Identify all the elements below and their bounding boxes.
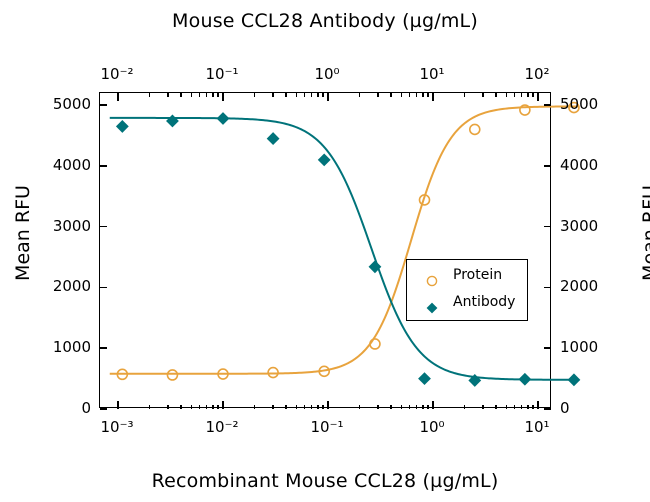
x-tick-minor-top [464,93,466,97]
top-axis-title: Mouse CCL28 Antibody (µg/mL) [0,10,650,32]
x-tick-major-top [222,93,224,101]
x-tick-minor-bottom [149,405,151,409]
data-point-antibody [568,373,581,386]
y-tick-label-left: 1000 [41,338,91,356]
x-tick-minor-top [217,93,219,97]
x-tick-major-bottom [537,401,539,409]
filled-diamond-icon [425,301,439,315]
x-tick-minor-bottom [254,405,256,409]
x-tick-label-bottom: 10⁻¹ [310,418,343,436]
y-tick-left [100,408,107,410]
left-axis-title: Mean RFU [12,153,34,313]
x-tick-minor-top [272,93,274,97]
x-tick-minor-top [191,93,193,97]
y-tick-left [100,226,107,228]
y-tick-right [544,347,551,349]
x-tick-minor-bottom [377,405,379,409]
x-tick-minor-bottom [296,405,298,409]
x-tick-minor-bottom [416,405,418,409]
right-axis-title: Mean RFU [639,153,650,313]
x-tick-minor-bottom [401,405,403,409]
x-tick-minor-bottom [322,405,324,409]
legend: Protein Antibody [406,259,528,321]
x-tick-minor-bottom [422,405,424,409]
legend-item-protein: Protein [407,264,529,288]
x-tick-label-bottom: 10⁻² [205,418,238,436]
x-tick-minor-bottom [527,405,529,409]
y-tick-label-right: 2000 [560,277,598,295]
x-tick-minor-top [180,93,182,97]
y-tick-left [100,165,107,167]
data-point-antibody [166,115,179,128]
x-tick-minor-top [401,93,403,97]
x-tick-minor-bottom [482,405,484,409]
x-tick-label-top: 10¹ [419,65,444,83]
x-tick-minor-top [377,93,379,97]
x-tick-minor-top [506,93,508,97]
y-tick-label-left: 3000 [41,217,91,235]
y-tick-right [544,226,551,228]
x-tick-minor-top [304,93,306,97]
fit-curve-antibody [110,118,579,380]
x-tick-minor-bottom [427,405,429,409]
x-tick-major-top [537,93,539,101]
data-point-antibody [318,153,331,166]
x-tick-minor-top [296,93,298,97]
x-tick-minor-top [482,93,484,97]
x-tick-label-bottom: 10⁻³ [100,418,133,436]
y-tick-label-right: 1000 [560,338,598,356]
x-tick-minor-top [521,93,523,97]
y-tick-right [544,104,551,106]
x-tick-major-bottom [432,401,434,409]
x-tick-minor-bottom [167,405,169,409]
x-tick-minor-top [390,93,392,97]
data-point-antibody [418,372,431,385]
plot-area: Protein Antibody [99,92,551,408]
x-tick-minor-bottom [206,405,208,409]
x-tick-minor-top [285,93,287,97]
y-tick-left [100,104,107,106]
x-tick-minor-top [149,93,151,97]
x-tick-minor-bottom [180,405,182,409]
y-tick-left [100,347,107,349]
legend-item-antibody: Antibody [407,291,529,315]
x-tick-minor-bottom [506,405,508,409]
y-tick-label-right: 5000 [560,95,598,113]
x-tick-minor-top [527,93,529,97]
x-tick-minor-top [206,93,208,97]
x-tick-minor-top [532,93,534,97]
x-tick-major-top [432,93,434,101]
y-tick-left [100,287,107,289]
y-tick-label-right: 0 [560,399,570,417]
x-tick-minor-bottom [532,405,534,409]
x-tick-minor-bottom [409,405,411,409]
x-tick-minor-bottom [359,405,361,409]
x-tick-major-top [327,93,329,101]
x-tick-label-top: 10⁰ [314,65,339,83]
x-tick-minor-bottom [521,405,523,409]
x-tick-minor-bottom [285,405,287,409]
fit-curve-protein [110,106,579,373]
x-tick-minor-top [167,93,169,97]
x-tick-minor-bottom [495,405,497,409]
x-tick-label-top: 10² [524,65,549,83]
x-tick-major-bottom [222,401,224,409]
y-tick-label-left: 5000 [41,95,91,113]
x-tick-minor-bottom [311,405,313,409]
bottom-axis-title: Recombinant Mouse CCL28 (µg/mL) [0,470,650,492]
x-tick-major-bottom [327,401,329,409]
y-tick-label-right: 4000 [560,156,598,174]
data-point-protein [167,370,177,380]
x-tick-minor-bottom [191,405,193,409]
x-tick-minor-bottom [272,405,274,409]
x-tick-minor-top [427,93,429,97]
y-tick-label-right: 3000 [560,217,598,235]
x-tick-minor-top [409,93,411,97]
data-point-protein [370,339,380,349]
x-tick-minor-bottom [317,405,319,409]
x-tick-minor-top [212,93,214,97]
x-tick-minor-top [317,93,319,97]
x-tick-minor-top [416,93,418,97]
x-tick-minor-bottom [304,405,306,409]
x-tick-minor-bottom [464,405,466,409]
legend-label-antibody: Antibody [453,294,515,310]
open-circle-icon [425,274,439,288]
y-tick-label-left: 4000 [41,156,91,174]
data-point-antibody [116,120,129,133]
data-point-antibody [518,373,531,386]
data-point-antibody [267,132,280,145]
x-tick-minor-top [422,93,424,97]
x-tick-label-bottom: 10⁰ [419,418,444,436]
x-tick-minor-bottom [217,405,219,409]
x-tick-label-top: 10⁻¹ [205,65,238,83]
x-tick-label-top: 10⁻² [100,65,133,83]
x-tick-minor-top [322,93,324,97]
x-tick-minor-bottom [199,405,201,409]
x-tick-minor-top [199,93,201,97]
x-tick-minor-top [311,93,313,97]
x-tick-minor-top [254,93,256,97]
x-tick-major-bottom [117,401,119,409]
y-tick-label-left: 0 [41,399,91,417]
x-tick-minor-top [359,93,361,97]
data-overlay [100,93,552,409]
x-tick-minor-bottom [390,405,392,409]
x-tick-minor-bottom [212,405,214,409]
data-point-antibody [217,112,230,125]
x-tick-minor-top [495,93,497,97]
y-tick-label-left: 2000 [41,277,91,295]
y-tick-right [544,287,551,289]
x-tick-major-top [117,93,119,101]
legend-label-protein: Protein [453,267,502,283]
chart-root: Mouse CCL28 Antibody (µg/mL) Recombinant… [0,0,650,502]
x-tick-minor-top [514,93,516,97]
data-point-protein [470,124,480,134]
x-tick-minor-bottom [514,405,516,409]
y-tick-right [544,408,551,410]
x-tick-label-bottom: 10¹ [524,418,549,436]
y-tick-right [544,165,551,167]
